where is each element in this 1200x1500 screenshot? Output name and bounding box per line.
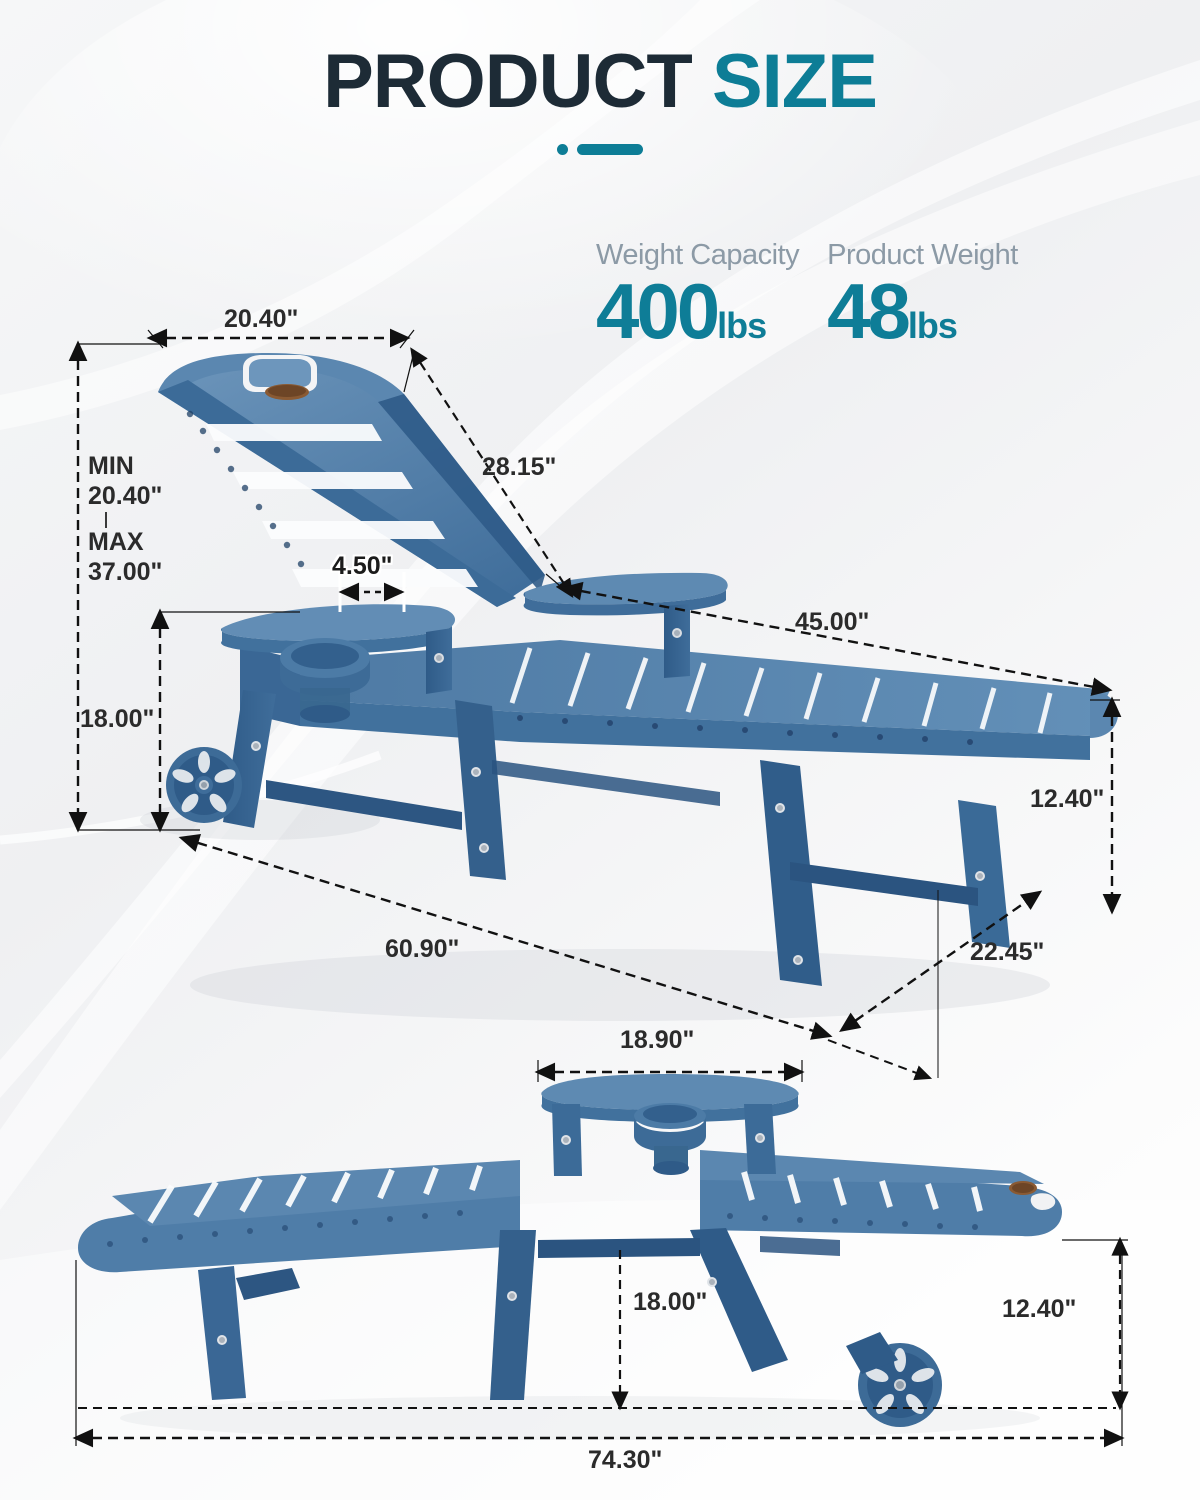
spec-weight-capacity-number: 400 bbox=[596, 267, 717, 355]
minmax-separator bbox=[105, 512, 107, 528]
spec-product-weight-value: 48lbs bbox=[827, 274, 1018, 348]
dim-seat-height-side: 18.00" bbox=[633, 1288, 707, 1317]
dim-seat-height: 18.00" bbox=[80, 705, 154, 734]
dim-seat-length: 45.00" bbox=[795, 608, 869, 637]
dim-backrest-length: 28.15" bbox=[482, 453, 556, 482]
spec-product-weight-unit: lbs bbox=[908, 305, 957, 346]
dim-overall-length-flat: 74.30" bbox=[588, 1446, 662, 1475]
spec-weight-capacity: Weight Capacity 400lbs bbox=[596, 240, 799, 348]
dim-slat-width: 4.50" bbox=[332, 552, 393, 581]
page-title: PRODUCT SIZE bbox=[0, 44, 1200, 120]
spec-product-weight-number: 48 bbox=[827, 267, 908, 355]
dim-backrest-width: 20.40" bbox=[224, 305, 298, 334]
page-header: PRODUCT SIZE bbox=[0, 44, 1200, 155]
chaise-lounge-side-view bbox=[76, 1060, 1128, 1446]
dim-backrest-height-max: MAX 37.00" bbox=[88, 528, 162, 587]
spec-callouts: Weight Capacity 400lbs Product Weight 48… bbox=[596, 240, 1156, 348]
spec-weight-capacity-value: 400lbs bbox=[596, 274, 799, 348]
product-drawings bbox=[0, 0, 1200, 1500]
dim-max-value: 37.00" bbox=[88, 558, 162, 588]
spec-weight-capacity-unit: lbs bbox=[717, 305, 766, 346]
spec-product-weight: Product Weight 48lbs bbox=[827, 240, 1018, 348]
dim-footend-height: 12.40" bbox=[1030, 785, 1104, 814]
dim-overall-depth: 22.45" bbox=[970, 938, 1044, 967]
divider-bar bbox=[577, 144, 643, 155]
dim-min-label: MIN bbox=[88, 452, 162, 482]
dim-armrest-width: 18.90" bbox=[620, 1026, 694, 1055]
page-title-primary: PRODUCT bbox=[323, 39, 692, 124]
dim-max-label: MAX bbox=[88, 528, 162, 558]
dim-footend-height-side: 12.40" bbox=[1002, 1295, 1076, 1324]
page-title-accent: SIZE bbox=[712, 39, 877, 124]
chaise-lounge-perspective bbox=[78, 330, 1120, 1078]
divider-dot bbox=[557, 144, 568, 155]
dim-min-value: 20.40" bbox=[88, 482, 162, 512]
dot-dash-divider-icon bbox=[557, 144, 643, 155]
dim-backrest-height-min: MIN 20.40" bbox=[88, 452, 162, 511]
wheel-perspective bbox=[166, 747, 242, 823]
dim-overall-length: 60.90" bbox=[385, 935, 459, 964]
